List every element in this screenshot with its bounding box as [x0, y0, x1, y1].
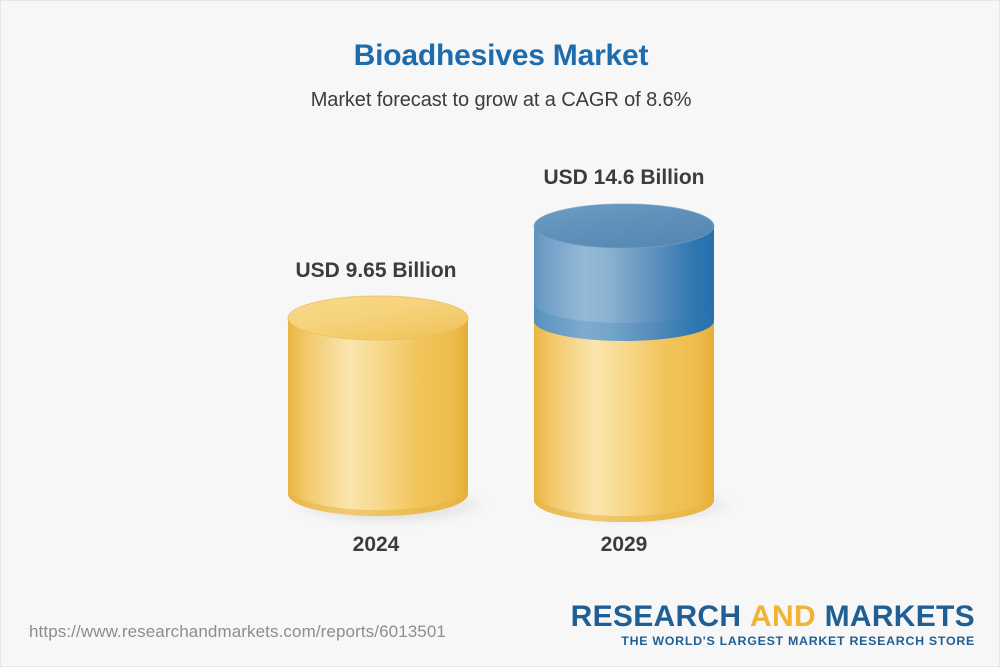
infographic-canvas: Bioadhesives Market Market forecast to g… [0, 0, 1000, 667]
logo-word-markets: MARKETS [825, 600, 975, 633]
bar-value-label-2024: USD 9.65 Billion [216, 259, 536, 283]
research-and-markets-logo[interactable]: RESEARCH AND MARKETS THE WORLD'S LARGEST… [571, 601, 975, 649]
logo-word-research: RESEARCH [571, 600, 742, 633]
logo-tagline: THE WORLD'S LARGEST MARKET RESEARCH STOR… [571, 634, 975, 648]
report-url-link[interactable]: https://www.researchandmarkets.com/repor… [29, 622, 446, 642]
bar-category-label-2029: 2029 [464, 533, 784, 557]
logo-wordmark: RESEARCH AND MARKETS [571, 601, 975, 633]
chart-plot-area: USD 9.65 Billion [1, 1, 1000, 601]
cylinder-shape-2029 [524, 193, 724, 528]
cylinder-shape-2024 [278, 290, 478, 522]
bar-value-label-2029: USD 14.6 Billion [464, 166, 784, 190]
logo-word-and: AND [750, 600, 816, 633]
